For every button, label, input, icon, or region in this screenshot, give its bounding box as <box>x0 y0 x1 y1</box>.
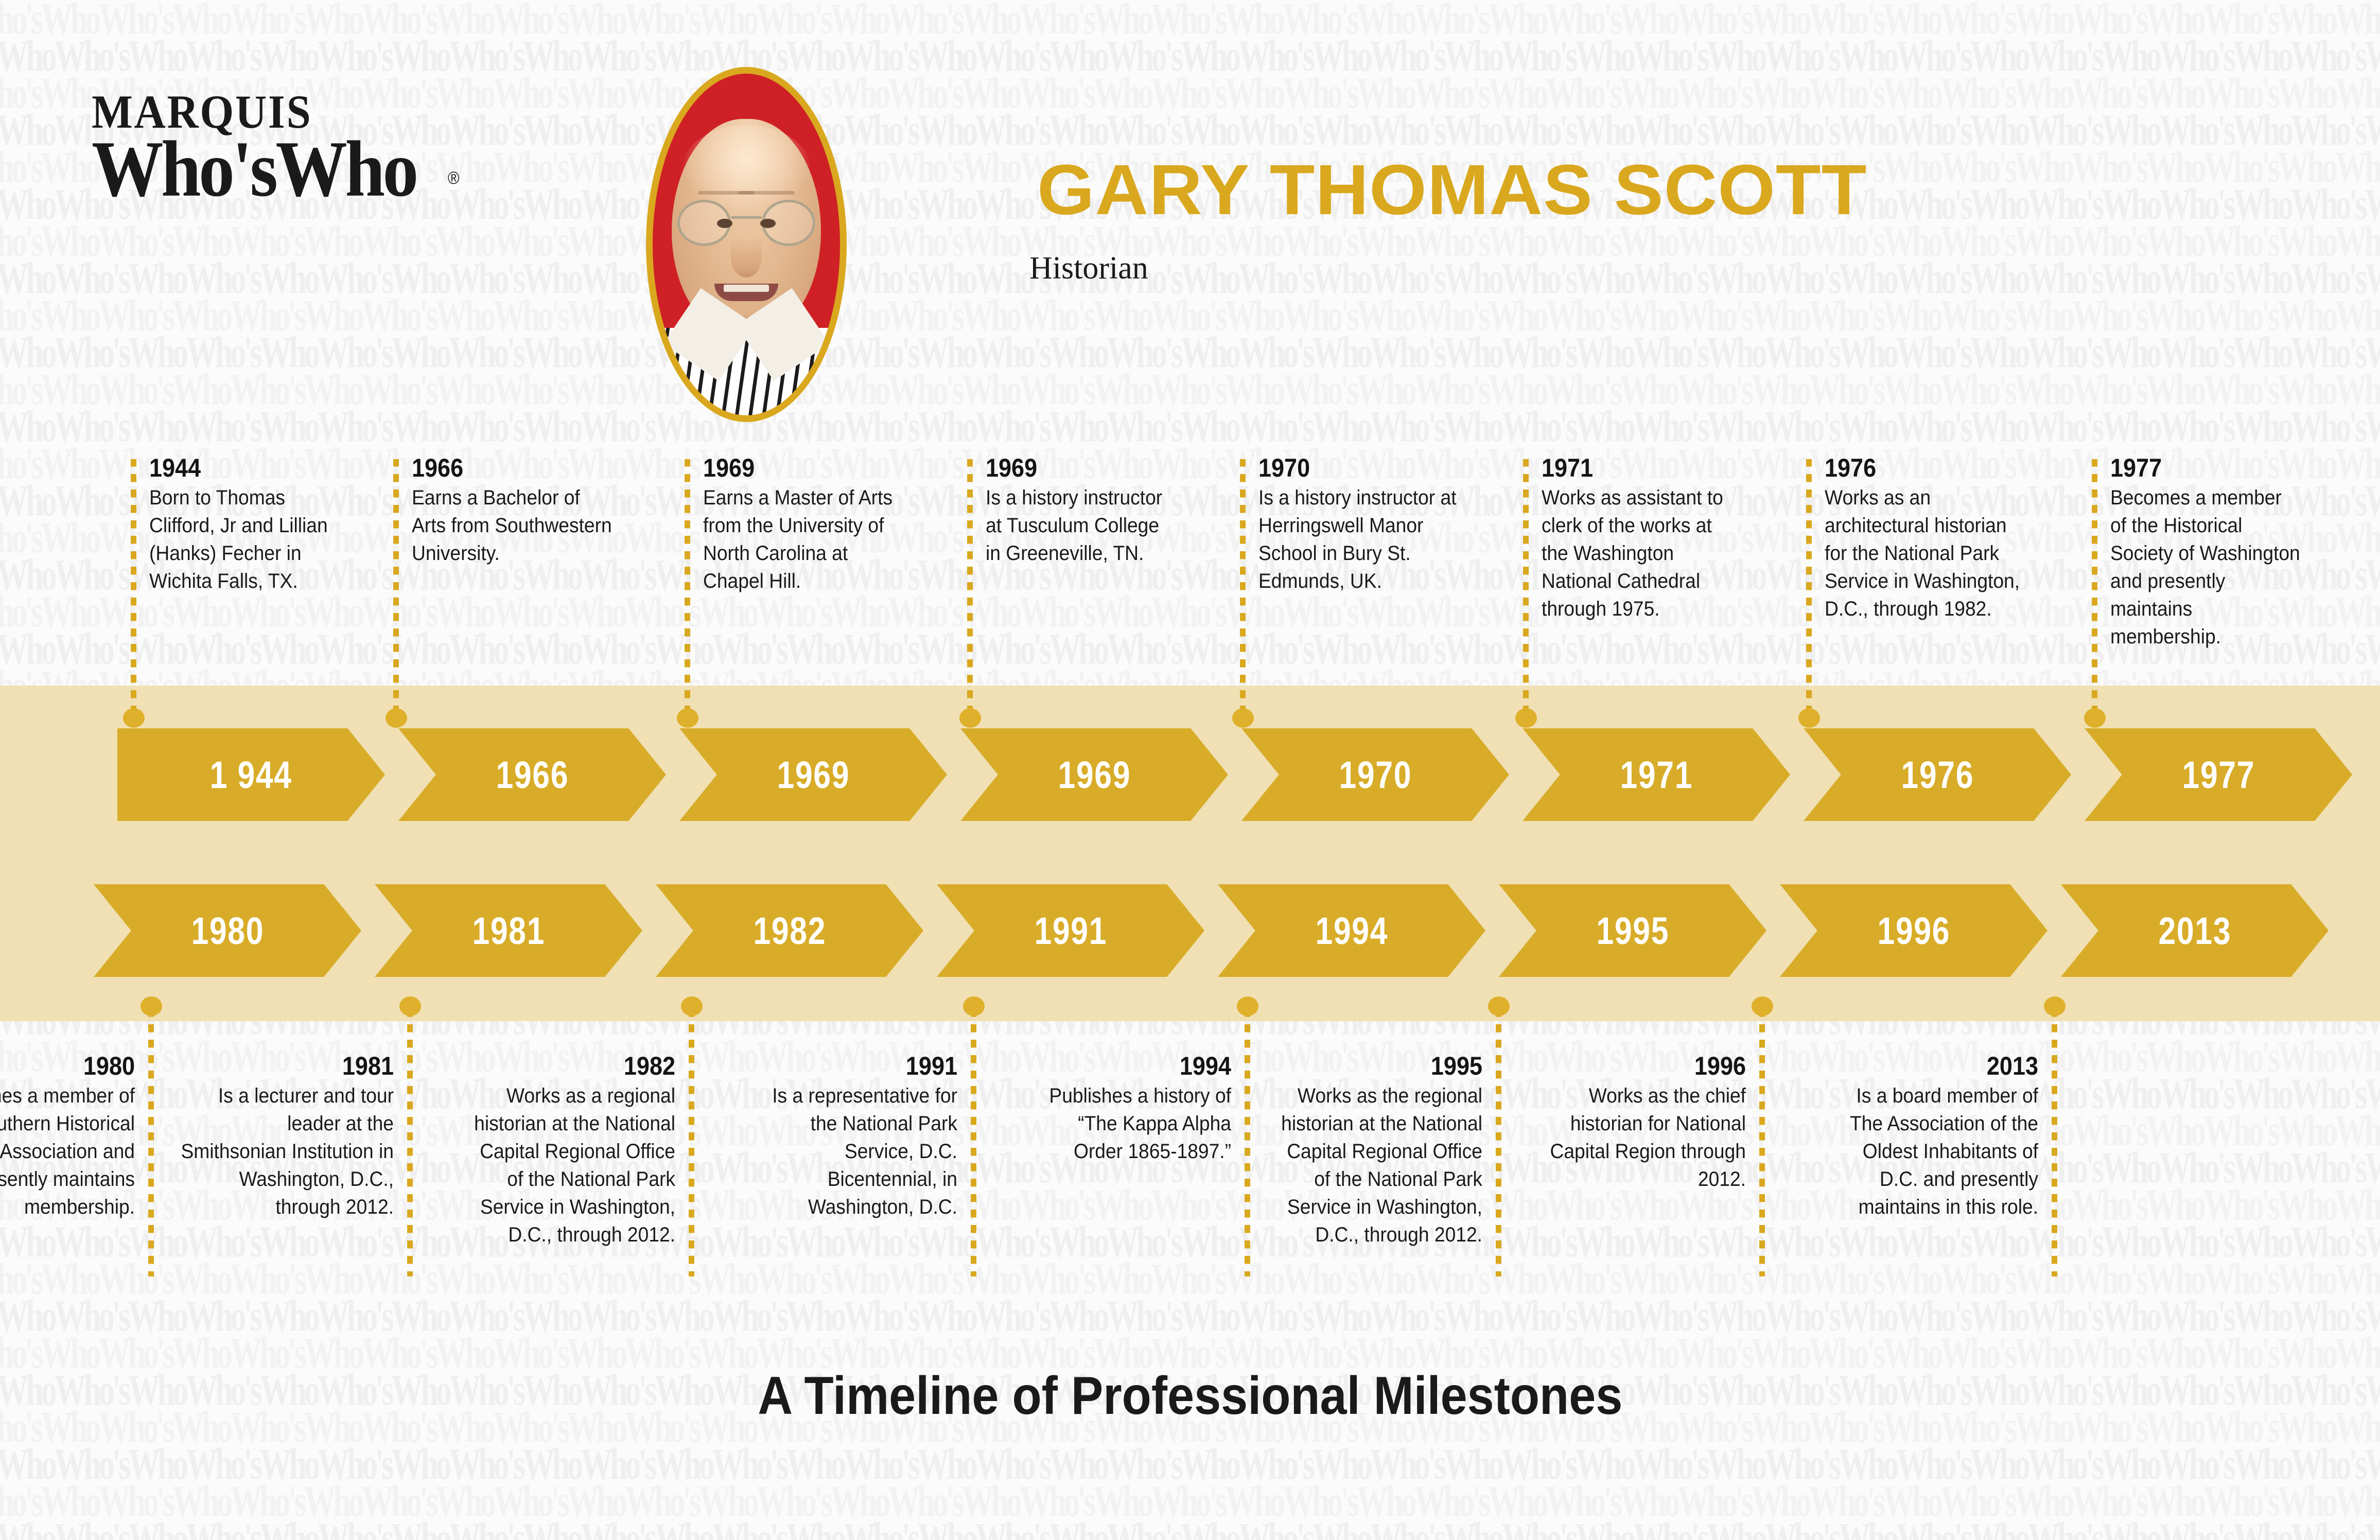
milestone-1969-top-2: 1969Earns a Master of Arts from the Univ… <box>703 452 919 595</box>
chevron-1995: 1995 <box>1499 884 1766 977</box>
chevron-2013: 2013 <box>2061 884 2329 977</box>
chevron-row-top: 1 9441966196919691970197119761977 <box>0 728 2380 821</box>
logo-whoswho-text: Who'sWho ® <box>92 133 444 204</box>
milestone-description: Works as assistant to clerk of the works… <box>1542 484 1733 623</box>
milestone-1991-bottom-3: 1991Is a representative for the National… <box>751 1050 957 1221</box>
connector-dot <box>1515 708 1537 728</box>
chevron-label: 2013 <box>2158 909 2231 953</box>
chevron-label: 1982 <box>753 909 826 953</box>
connector-line-bottom <box>148 1004 154 1276</box>
milestone-1971-top-5: 1971Works as assistant to clerk of the w… <box>1542 452 1747 623</box>
connector-line-bottom <box>1496 1004 1501 1276</box>
chevron-label: 1995 <box>1596 909 1669 953</box>
milestone-year: 2013 <box>1853 1050 2038 1082</box>
milestone-1966-top-1: 1966Earns a Bachelor of Arts from Southw… <box>412 452 633 567</box>
connector-dot <box>959 708 981 728</box>
milestone-description: Becomes a member of the Historical Socie… <box>2110 484 2302 651</box>
chevron-label: 1996 <box>1877 909 1950 953</box>
milestone-year: 1966 <box>412 452 611 484</box>
milestone-year: 1995 <box>1283 1050 1482 1082</box>
milestone-year: 1981 <box>185 1050 394 1082</box>
portrait-mouth <box>714 284 778 301</box>
portrait-brow-right <box>738 191 795 195</box>
milestone-year: 1976 <box>1825 452 2019 484</box>
milestone-year: 1980 <box>0 1050 135 1082</box>
milestone-year: 1991 <box>772 1050 957 1082</box>
chevron-label: 1 944 <box>210 753 292 797</box>
chevron-label: 1969 <box>1058 753 1131 797</box>
logo-whoswho-label: Who'sWho <box>92 125 416 213</box>
chevron-1991: 1991 <box>937 884 1204 977</box>
milestone-1981-bottom-1: 1981Is a lecturer and tour leader at the… <box>162 1050 394 1221</box>
chevron-1969: 1969 <box>960 728 1228 821</box>
connector-line-top <box>2092 459 2097 721</box>
footer-title-label: A Timeline of Professional Milestones <box>758 1369 1622 1423</box>
lens-bridge <box>731 216 762 219</box>
milestone-2013-bottom-7: 2013Is a board member of The Association… <box>1832 1050 2038 1221</box>
chevron-label: 1970 <box>1339 753 1412 797</box>
connector-dot <box>681 996 703 1016</box>
connector-line-bottom <box>1245 1004 1250 1276</box>
milestone-description: Works as a regional historian at the Nat… <box>469 1082 675 1249</box>
chevron-1994: 1994 <box>1218 884 1485 977</box>
milestone-description: Is a representative for the National Par… <box>766 1082 957 1221</box>
chevron-1976: 1976 <box>1804 728 2071 821</box>
chevron-1980: 1980 <box>94 884 361 977</box>
milestone-description: Publishes a history of “The Kappa Alpha … <box>1040 1082 1231 1165</box>
portrait-nose <box>731 237 762 277</box>
chevron-1970: 1970 <box>1241 728 1509 821</box>
chevron-1966: 1966 <box>398 728 666 821</box>
connector-line-top <box>393 459 399 721</box>
milestone-description: Is a board member of The Association of … <box>1847 1082 2038 1221</box>
header: MARQUIS Who'sWho ® <box>0 0 2380 443</box>
connector-line-bottom <box>971 1004 976 1276</box>
chevron-1969: 1969 <box>679 728 947 821</box>
connector-dot <box>141 996 162 1016</box>
connector-dot <box>1237 996 1258 1016</box>
connector-dot <box>963 996 985 1016</box>
connector-dot <box>677 708 698 728</box>
connector-line-bottom <box>689 1004 694 1276</box>
registered-trademark-icon: ® <box>448 143 460 214</box>
milestone-1977-top-7: 1977Becomes a member of the Historical S… <box>2110 452 2316 651</box>
connector-dot <box>2084 708 2106 728</box>
connector-dot <box>386 708 407 728</box>
chevron-row-bottom: 19801981198219911994199519962013 <box>0 884 2380 977</box>
connector-line-bottom <box>407 1004 413 1276</box>
milestone-1996-bottom-6: 1996Works as the chief historian for Nat… <box>1504 1050 1746 1193</box>
milestone-description: Is a lecturer and tour leader at the Smi… <box>179 1082 394 1221</box>
portrait-eye-left <box>717 219 732 228</box>
chevron-label: 1980 <box>191 909 264 953</box>
milestone-year: 1994 <box>1046 1050 1231 1082</box>
milestone-1994-bottom-4: 1994Publishes a history of “The Kappa Al… <box>1025 1050 1231 1165</box>
chevron-1977: 1977 <box>2085 728 2352 821</box>
connector-dot <box>1232 708 1254 728</box>
connector-line-top <box>1523 459 1529 721</box>
chevron-label: 1977 <box>2182 753 2255 797</box>
chevron-label: 1966 <box>496 753 569 797</box>
milestone-year: 1970 <box>1258 452 1458 484</box>
connector-dot <box>1488 996 1510 1016</box>
chevron-label: 1981 <box>472 909 545 953</box>
milestone-year: 1977 <box>2110 452 2296 484</box>
milestone-1982-bottom-2: 1982Works as a regional historian at the… <box>454 1050 675 1249</box>
milestone-1970-top-4: 1970Is a history instructor at Herringsw… <box>1258 452 1480 595</box>
page-subtitle: Historian <box>1029 252 1148 284</box>
milestone-description: Works as the chief historian for Nationa… <box>1521 1082 1746 1193</box>
connector-dot <box>2044 996 2066 1016</box>
chevron-label: 1994 <box>1315 909 1388 953</box>
connector-line-top <box>685 459 690 721</box>
milestone-year: 1982 <box>476 1050 675 1082</box>
connector-dot <box>1752 996 1773 1016</box>
milestone-description: Earns a Master of Arts from the Universi… <box>703 484 904 595</box>
connector-line-bottom <box>2052 1004 2057 1276</box>
milestone-year: 1969 <box>703 452 898 484</box>
portrait-teeth <box>724 285 769 292</box>
chevron-label: 1991 <box>1034 909 1107 953</box>
footer-title: A Timeline of Professional Milestones <box>0 1369 2380 1423</box>
milestone-description: Becomes a member of the Southern Histori… <box>0 1082 135 1221</box>
milestone-year: 1944 <box>149 452 335 484</box>
chevron-label: 1971 <box>1620 753 1693 797</box>
milestone-description: Works as the regional historian at the N… <box>1276 1082 1482 1249</box>
milestone-description: Born to Thomas Clifford, Jr and Lillian … <box>149 484 341 595</box>
milestone-description: Works as an architectural historian for … <box>1825 484 2026 623</box>
connector-line-top <box>967 459 973 721</box>
connector-line-top <box>1806 459 1812 721</box>
marquis-whoswho-logo: MARQUIS Who'sWho ® <box>92 90 483 204</box>
connector-dot <box>1798 708 1820 728</box>
milestone-description: Is a history instructor at Herringswell … <box>1258 484 1464 595</box>
milestone-year: 1969 <box>986 452 1171 484</box>
chevron-label: 1969 <box>777 753 850 797</box>
chevron-1982: 1982 <box>656 884 923 977</box>
avatar <box>646 67 847 422</box>
milestone-1969-top-3: 1969Is a history instructor at Tusculum … <box>986 452 1192 567</box>
milestone-year: 1971 <box>1542 452 1727 484</box>
connector-line-bottom <box>1759 1004 1765 1276</box>
connector-dot <box>399 996 421 1016</box>
chevron-1981: 1981 <box>375 884 642 977</box>
chevron-1996: 1996 <box>1780 884 2047 977</box>
milestone-year: 1996 <box>1528 1050 1746 1082</box>
connector-line-top <box>1240 459 1246 721</box>
milestone-1944-top-0: 1944Born to Thomas Clifford, Jr and Lill… <box>149 452 355 595</box>
connector-dot <box>123 708 145 728</box>
page-title: GARY THOMAS SCOTT <box>1037 154 1867 225</box>
milestone-1976-top-6: 1976Works as an architectural historian … <box>1825 452 2041 623</box>
milestone-description: Is a history instructor at Tusculum Coll… <box>986 484 1177 567</box>
connector-line-top <box>131 459 136 721</box>
portrait-eye-right <box>760 219 776 228</box>
chevron-label: 1976 <box>1901 753 1974 797</box>
milestone-1980-bottom-0: 1980Becomes a member of the Southern His… <box>0 1050 135 1221</box>
chevron-1971: 1971 <box>1522 728 1790 821</box>
chevron-1944: 1 944 <box>117 728 385 821</box>
milestone-1995-bottom-5: 1995Works as the regional historian at t… <box>1261 1050 1482 1249</box>
milestone-description: Earns a Bachelor of Arts from Southweste… <box>412 484 618 567</box>
